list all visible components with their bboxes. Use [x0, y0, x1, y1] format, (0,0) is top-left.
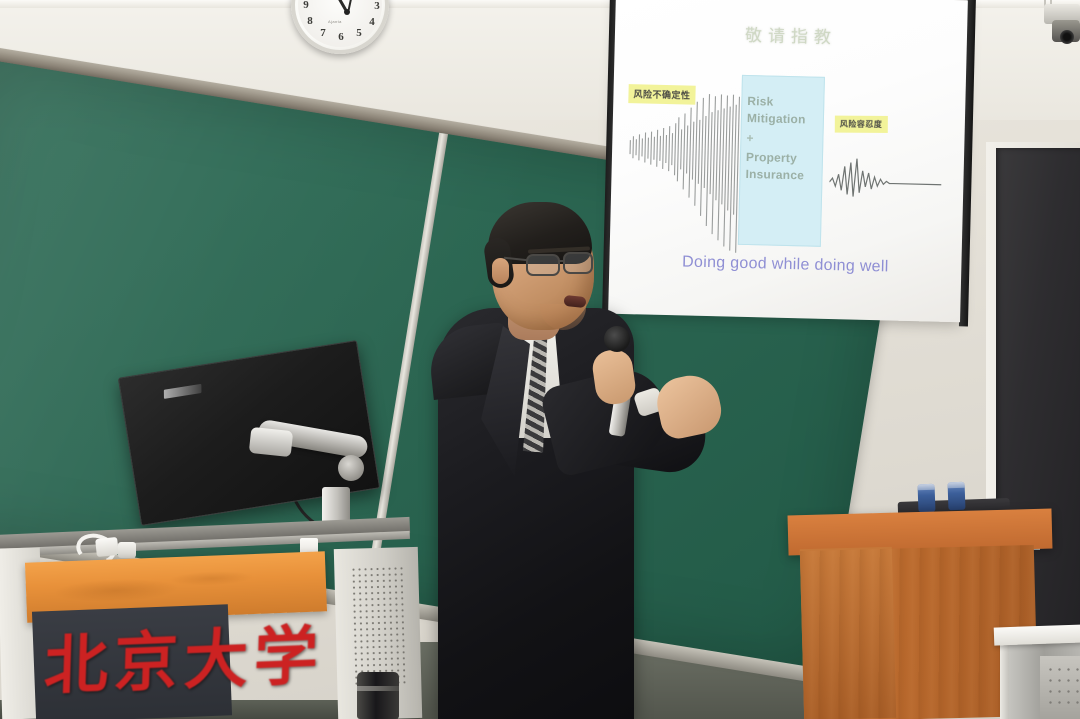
power-plug-a — [95, 537, 119, 557]
clock-numeral-7: 7 — [316, 27, 330, 39]
microphone-head-icon — [604, 326, 630, 352]
clock-numeral-3: 3 — [370, 0, 384, 12]
monitor-arm-pivot[interactable] — [338, 455, 364, 481]
blue-marker-1[interactable] — [918, 484, 936, 513]
power-plug-b — [118, 542, 136, 558]
marker-cap-1 — [918, 484, 935, 491]
university-name-calligraphy: 北京大学 — [43, 626, 275, 701]
eyeglasses-left-lens-icon — [526, 254, 560, 276]
monitor-arm-joint-cover — [249, 427, 293, 457]
box-line-property: Property — [746, 149, 826, 168]
box-plus-sign: + — [746, 127, 827, 151]
presenter — [400, 200, 730, 719]
clock-numeral-4: 4 — [365, 16, 379, 28]
clock-center-pin — [344, 9, 350, 15]
lecture-hall-photo: 12 1 2 3 4 5 6 7 8 9 10 11 Ajanta — [0, 0, 1080, 719]
monitor-brand-logo — [164, 384, 202, 399]
side-table-leg — [1000, 642, 1009, 719]
slide-title: 敬请指教 — [615, 18, 968, 52]
clock-numeral-6: 6 — [334, 31, 348, 43]
clock-brand-text: Ajanta — [328, 19, 342, 24]
clock-numeral-9: 9 — [299, 0, 313, 11]
slide-center-box-text: Risk Mitigation + Property Insurance — [745, 93, 827, 185]
box-line-risk: Risk — [747, 93, 827, 112]
slide-label-risk-tolerance: 风险容忍度 — [835, 116, 888, 133]
eyeglasses-right-lens-icon — [563, 252, 593, 274]
box-line-insurance: Insurance — [745, 166, 825, 185]
thermos-band — [357, 686, 399, 691]
clock-numeral-5: 5 — [352, 27, 366, 39]
speaker-grille — [350, 565, 405, 686]
blue-marker-2[interactable] — [948, 482, 966, 511]
marker-cap-2 — [948, 482, 965, 489]
presenter-mouth — [563, 295, 586, 308]
presenter-gesturing-hand — [652, 370, 725, 442]
clock-numeral-8: 8 — [303, 15, 317, 27]
box-line-mitigation: Mitigation — [747, 110, 827, 129]
projector-lens-icon — [1060, 30, 1074, 44]
side-table-perforation — [1046, 664, 1080, 712]
clock-face: 12 1 2 3 4 5 6 7 8 9 10 11 Ajanta — [298, 0, 382, 47]
thermos-flask — [357, 672, 399, 719]
side-table-top — [994, 624, 1080, 645]
eyeglasses-bridge — [559, 260, 565, 262]
right-waveform-graphic — [829, 152, 942, 215]
presenter-ear — [492, 258, 509, 284]
